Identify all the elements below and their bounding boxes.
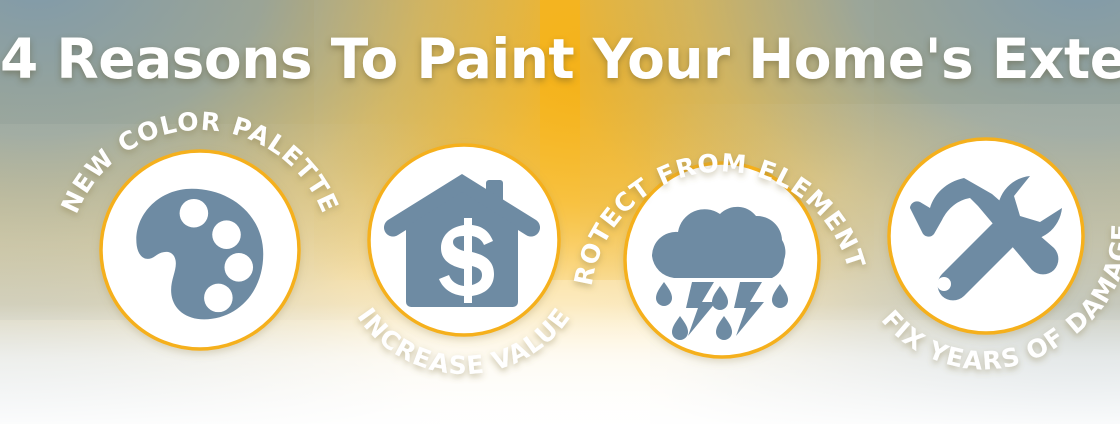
poster-canvas: 4 Reasons To Paint Your Home's Exterior bbox=[0, 0, 1120, 424]
badge-row: NEW COLOR PALETTE bbox=[0, 112, 1120, 412]
badge-fix-years-of-damage[interactable]: FIX YEARS OF DAMAGE bbox=[848, 112, 1120, 388]
badge-new-color-palette[interactable]: NEW COLOR PALETTE bbox=[62, 112, 338, 388]
badge-protect-from-elements[interactable]: PROTECT FROM ELEMENTS bbox=[584, 112, 860, 388]
badge-increase-value[interactable]: INCREASE VALUE bbox=[326, 112, 602, 388]
page-title: 4 Reasons To Paint Your Home's Exterior bbox=[0, 32, 1120, 87]
